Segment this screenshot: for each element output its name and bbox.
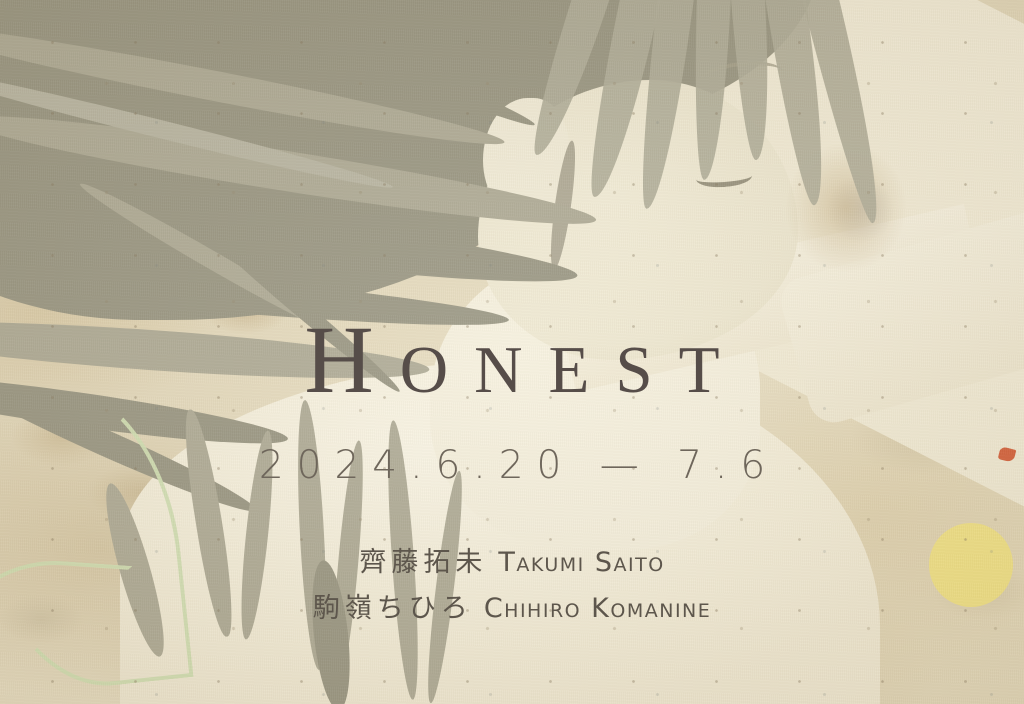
artist-name-line: 齊藤拓未 Takumi Saito [0, 540, 1024, 579]
artist-name-line: 駒嶺ちひろ Chihiro Komanine [0, 586, 1024, 625]
artist-name-ja: 齊藤拓未 [359, 547, 487, 578]
artist-name-ja: 駒嶺ちひろ [313, 593, 473, 624]
artist-name-en: Chihiro Komanine [484, 593, 711, 624]
exhibition-dates: 2024.6.20 — 7.6 [0, 443, 1024, 488]
artist-name-en: Takumi Saito [498, 547, 664, 578]
poster-text-block: Honest 2024.6.20 — 7.6 齊藤拓未 Takumi Saito… [0, 0, 1024, 704]
exhibition-title: Honest [0, 312, 1024, 408]
exhibition-poster: Honest 2024.6.20 — 7.6 齊藤拓未 Takumi Saito… [0, 0, 1024, 704]
